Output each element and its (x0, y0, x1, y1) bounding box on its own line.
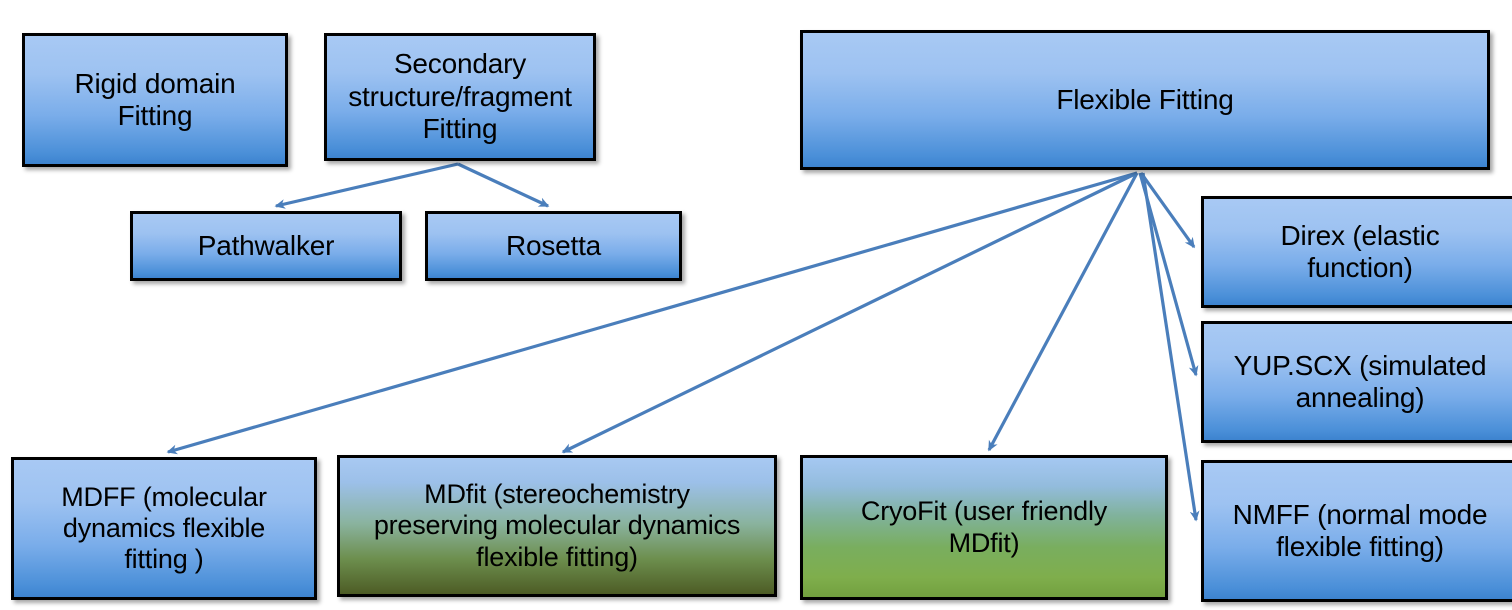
edge-flexible-to-direx (1141, 173, 1194, 247)
node-rosetta[interactable]: Rosetta (425, 211, 682, 281)
node-yupscx-simulated-annealing[interactable]: YUP.SCX (simulated annealing) (1201, 321, 1512, 443)
diagram-canvas: Rigid domain Fitting Secondary structure… (0, 0, 1512, 610)
node-flexible-fitting[interactable]: Flexible Fitting (800, 30, 1490, 170)
edge-secondary-to-rosetta (458, 164, 548, 206)
node-secondary-structure-fragment-fitting[interactable]: Secondary structure/fragment Fitting (324, 33, 596, 161)
node-mdff-molecular-dynamics-flexible-fitting[interactable]: MDFF (molecular dynamics flexible fittin… (11, 457, 317, 600)
node-direx-elastic-function[interactable]: Direx (elastic function) (1201, 196, 1512, 308)
node-cryofit-user-friendly-mdfit[interactable]: CryoFit (user friendly MDfit) (800, 455, 1168, 600)
node-pathwalker[interactable]: Pathwalker (130, 211, 402, 281)
node-rigid-domain-fitting[interactable]: Rigid domain Fitting (22, 33, 288, 167)
edge-flexible-to-yupscx (1140, 173, 1196, 375)
node-mdfit-stereochemistry-preserving[interactable]: MDfit (stereochemistry preserving molecu… (337, 455, 777, 597)
node-nmff-normal-mode-flexible-fitting[interactable]: NMFF (normal mode flexible fitting) (1201, 460, 1512, 602)
edge-flexible-to-cryofit (989, 173, 1137, 450)
edge-secondary-to-pathwalker (276, 164, 458, 206)
